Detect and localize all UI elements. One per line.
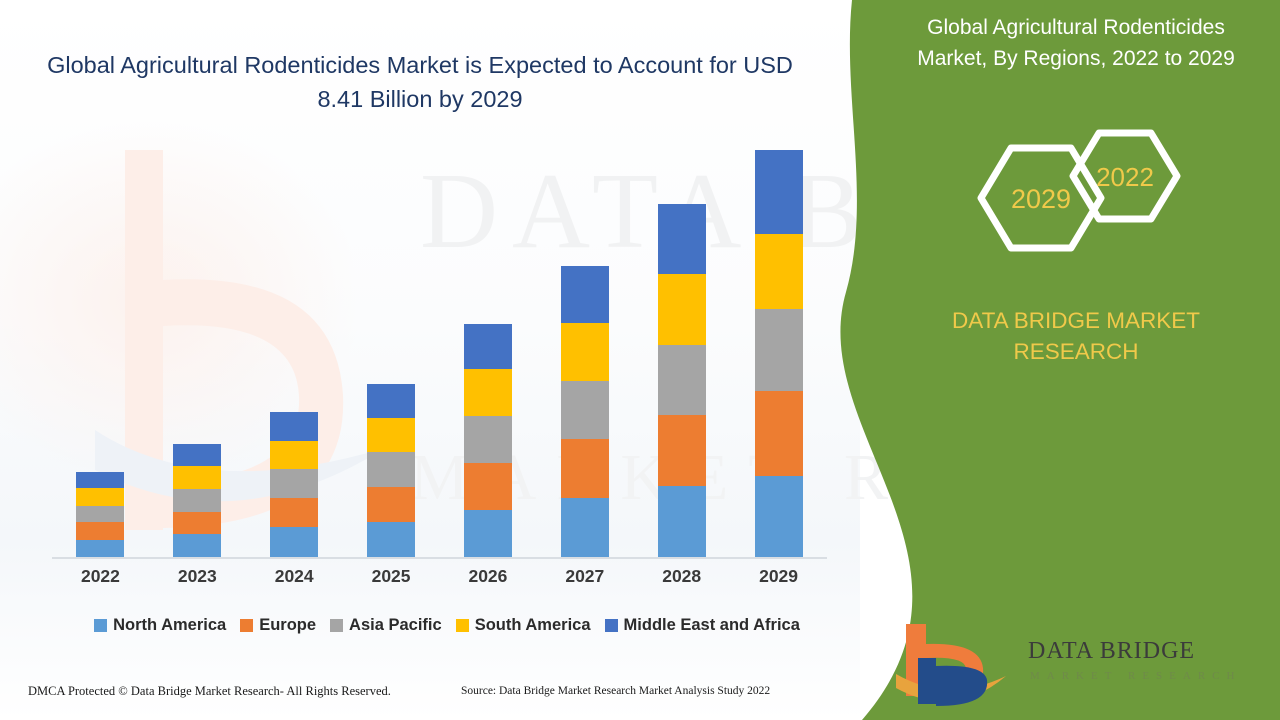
legend-item[interactable]: South America <box>456 616 591 635</box>
hexagon-2029-label: 2029 <box>1011 184 1071 214</box>
x-axis-line <box>52 557 827 559</box>
bar-segment[interactable] <box>76 488 124 505</box>
legend-item[interactable]: Asia Pacific <box>330 616 442 635</box>
bar-segment[interactable] <box>173 444 221 466</box>
x-axis-labels: 20222023202420252026202720282029 <box>52 566 827 587</box>
legend-label: Middle East and Africa <box>624 616 800 635</box>
stacked-bar[interactable] <box>755 150 803 557</box>
bar-segment[interactable] <box>561 498 609 557</box>
bar-segment[interactable] <box>367 418 415 453</box>
bar-segment[interactable] <box>173 534 221 557</box>
bar-segment[interactable] <box>367 452 415 487</box>
footer-copyright: DMCA Protected © Data Bridge Market Rese… <box>28 684 391 699</box>
bar-segment[interactable] <box>367 487 415 522</box>
logo-tagline: MARKET RESEARCH <box>1030 670 1241 682</box>
chart-panel: Global Agricultural Rodenticides Market … <box>0 0 860 720</box>
bar-segment[interactable] <box>76 472 124 488</box>
bar-segment[interactable] <box>173 489 221 512</box>
chart-legend: North AmericaEuropeAsia PacificSouth Ame… <box>52 616 842 635</box>
bar-segment[interactable] <box>76 540 124 557</box>
stacked-bar[interactable] <box>464 324 512 557</box>
bar-segment[interactable] <box>755 309 803 391</box>
panel-title: Global Agricultural Rodenticides Market,… <box>890 12 1262 74</box>
x-axis-label: 2025 <box>343 566 440 587</box>
chart-title: Global Agricultural Rodenticides Market … <box>40 48 800 116</box>
green-panel-content: Global Agricultural Rodenticides Market,… <box>880 0 1280 720</box>
bar-segment[interactable] <box>173 512 221 535</box>
x-axis-label: 2027 <box>536 566 633 587</box>
legend-label: Europe <box>259 616 316 635</box>
bar-segment[interactable] <box>76 522 124 539</box>
stacked-bar[interactable] <box>367 384 415 557</box>
bar-segment[interactable] <box>755 476 803 557</box>
bar-segment[interactable] <box>755 391 803 476</box>
x-axis-label: 2029 <box>730 566 827 587</box>
bar-segment[interactable] <box>76 506 124 522</box>
stacked-bar[interactable] <box>173 444 221 557</box>
bar-segment[interactable] <box>755 234 803 309</box>
bar-segment[interactable] <box>561 266 609 323</box>
legend-item[interactable]: Middle East and Africa <box>605 616 800 635</box>
legend-label: South America <box>475 616 591 635</box>
bar-segment[interactable] <box>270 527 318 557</box>
brand-name: DATA BRIDGE MARKET RESEARCH <box>890 305 1262 367</box>
bar-segment[interactable] <box>270 469 318 498</box>
bar-slot <box>730 150 827 557</box>
bar-segment[interactable] <box>464 510 512 557</box>
bar-segment[interactable] <box>464 324 512 369</box>
bar-slot <box>536 150 633 557</box>
bar-slot <box>633 150 730 557</box>
stacked-bar[interactable] <box>270 412 318 557</box>
bar-segment[interactable] <box>561 323 609 381</box>
legend-label: Asia Pacific <box>349 616 442 635</box>
bar-segment[interactable] <box>658 274 706 344</box>
bar-segment[interactable] <box>464 369 512 416</box>
bar-slot <box>440 150 537 557</box>
x-axis-label: 2022 <box>52 566 149 587</box>
bar-segment[interactable] <box>561 439 609 498</box>
bar-slot <box>343 150 440 557</box>
stacked-bar[interactable] <box>561 266 609 557</box>
bar-segment[interactable] <box>561 381 609 439</box>
bar-segment[interactable] <box>658 204 706 274</box>
bar-segment[interactable] <box>367 384 415 418</box>
legend-item[interactable]: Europe <box>240 616 316 635</box>
legend-item[interactable]: North America <box>94 616 226 635</box>
legend-swatch-icon <box>330 619 343 632</box>
stacked-bar[interactable] <box>658 204 706 557</box>
bar-segment[interactable] <box>658 486 706 557</box>
bar-segment[interactable] <box>464 416 512 463</box>
footer-source: Source: Data Bridge Market Research Mark… <box>461 685 770 697</box>
bar-chart-plot-area <box>52 150 827 557</box>
bar-segment[interactable] <box>464 463 512 510</box>
bar-segment[interactable] <box>658 345 706 415</box>
bar-segment[interactable] <box>658 415 706 486</box>
hexagon-badges: 2029 2022 <box>966 128 1196 293</box>
stacked-bar[interactable] <box>76 472 124 557</box>
bar-segment[interactable] <box>367 522 415 557</box>
legend-swatch-icon <box>605 619 618 632</box>
x-axis-label: 2024 <box>246 566 343 587</box>
bar-segment[interactable] <box>270 441 318 470</box>
legend-swatch-icon <box>240 619 253 632</box>
x-axis-label: 2026 <box>440 566 537 587</box>
legend-swatch-icon <box>94 619 107 632</box>
bar-slot <box>52 150 149 557</box>
hexagon-2022-label: 2022 <box>1096 162 1154 192</box>
x-axis-label: 2028 <box>633 566 730 587</box>
bar-segment[interactable] <box>173 466 221 489</box>
bar-segment[interactable] <box>270 498 318 528</box>
bar-segment[interactable] <box>270 412 318 441</box>
bar-slot <box>149 150 246 557</box>
bar-slot <box>246 150 343 557</box>
bar-segment[interactable] <box>755 150 803 234</box>
legend-label: North America <box>113 616 226 635</box>
x-axis-label: 2023 <box>149 566 246 587</box>
logo-wordmark: DATA BRIDGE <box>1028 638 1195 665</box>
legend-swatch-icon <box>456 619 469 632</box>
